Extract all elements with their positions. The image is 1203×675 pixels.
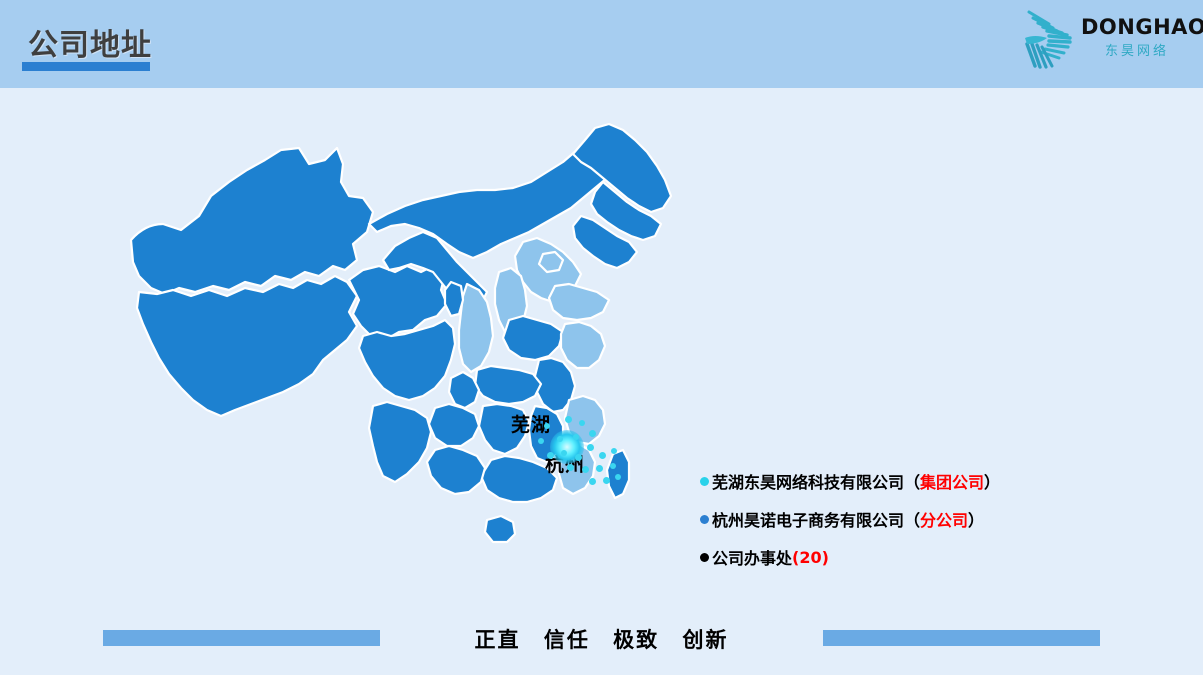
office-dot[interactable] xyxy=(589,430,596,437)
legend-tag: 20 xyxy=(799,548,821,567)
legend-item-offices[interactable]: 公司办事处 ( 20 ) xyxy=(700,538,1050,576)
province-henan[interactable] xyxy=(503,316,563,360)
office-dot[interactable] xyxy=(547,452,554,459)
office-dot[interactable] xyxy=(567,464,574,471)
company-motto: 正直 信任 极致 创新 xyxy=(0,624,1203,654)
office-dot[interactable] xyxy=(538,438,544,444)
office-dot[interactable] xyxy=(599,452,606,459)
office-dot[interactable] xyxy=(615,474,621,480)
province-hainan[interactable] xyxy=(485,516,515,542)
motto-word-2: 信任 xyxy=(544,628,590,652)
office-dot[interactable] xyxy=(557,436,563,442)
office-dot[interactable] xyxy=(565,416,572,423)
logo-subtitle: 东昊网络 xyxy=(1081,40,1193,59)
province-guizhou[interactable] xyxy=(429,404,479,446)
legend-tag-open: （ xyxy=(904,469,920,493)
province-yunnan[interactable] xyxy=(369,402,431,482)
province-chongqing[interactable] xyxy=(449,372,479,408)
office-dot[interactable] xyxy=(561,450,567,456)
legend-label: 公司办事处 xyxy=(712,545,792,569)
office-dot[interactable] xyxy=(579,420,585,426)
legend-bullet-cyan-icon xyxy=(700,477,709,486)
logo-wordmark: DONGHAO xyxy=(1081,16,1193,38)
legend-label: 芜湖东昊网络科技有限公司 xyxy=(712,469,904,493)
wing-body xyxy=(1025,36,1047,44)
legend-label: 杭州昊诺电子商务有限公司 xyxy=(712,507,904,531)
legend-bullet-blue-icon xyxy=(700,515,709,524)
legend-item-branch-company[interactable]: 杭州昊诺电子商务有限公司 （ 分公司 ） xyxy=(700,500,1050,538)
legend-tag-close: ） xyxy=(968,507,984,531)
motto-word-4: 创新 xyxy=(682,628,728,652)
legend-bullet-black-icon xyxy=(700,553,709,562)
office-dot[interactable] xyxy=(573,434,579,440)
office-dot[interactable] xyxy=(582,466,589,473)
office-dot[interactable] xyxy=(587,444,594,451)
legend-tag-close: ） xyxy=(984,469,1000,493)
province-guangxi[interactable] xyxy=(427,446,485,494)
china-map-svg xyxy=(95,120,695,620)
legend-tag-close: ) xyxy=(822,548,829,567)
motto-word-3: 极致 xyxy=(613,628,659,652)
office-dot[interactable] xyxy=(589,478,596,485)
legend-tag: 分公司 xyxy=(920,507,968,531)
legend-tag-open: ( xyxy=(792,548,799,567)
legend-tag-open: （ xyxy=(904,507,920,531)
office-dot[interactable] xyxy=(544,423,550,429)
province-sichuan[interactable] xyxy=(359,320,455,400)
title-underline xyxy=(22,62,150,71)
province-xinjiang[interactable] xyxy=(131,148,373,294)
province-shaanxi[interactable] xyxy=(459,284,493,372)
legend-item-group-company[interactable]: 芜湖东昊网络科技有限公司 （ 集团公司 ） xyxy=(700,462,1050,500)
page-header: 公司地址 DONGHA xyxy=(0,0,1203,88)
office-dot[interactable] xyxy=(596,465,603,472)
province-jiangsu[interactable] xyxy=(561,322,605,368)
office-dot[interactable] xyxy=(603,477,610,484)
province-hubei[interactable] xyxy=(475,366,541,404)
office-dot[interactable] xyxy=(575,454,582,461)
china-map[interactable]: 芜湖 杭州 xyxy=(95,120,695,620)
province-shandong[interactable] xyxy=(549,284,609,320)
company-logo: DONGHAO 东昊网络 xyxy=(1013,6,1193,78)
office-dot[interactable] xyxy=(610,463,616,469)
office-dot[interactable] xyxy=(611,448,617,454)
province-beijing[interactable] xyxy=(539,252,563,272)
motto-word-1: 正直 xyxy=(475,628,521,652)
wing-fan-icon xyxy=(1019,8,1081,72)
page-title: 公司地址 xyxy=(28,20,152,64)
legend: 芜湖东昊网络科技有限公司 （ 集团公司 ） 杭州昊诺电子商务有限公司 （ 分公司… xyxy=(700,462,1050,576)
province-ningxia[interactable] xyxy=(445,282,463,316)
legend-tag: 集团公司 xyxy=(920,469,984,493)
province-tibet[interactable] xyxy=(137,276,357,416)
